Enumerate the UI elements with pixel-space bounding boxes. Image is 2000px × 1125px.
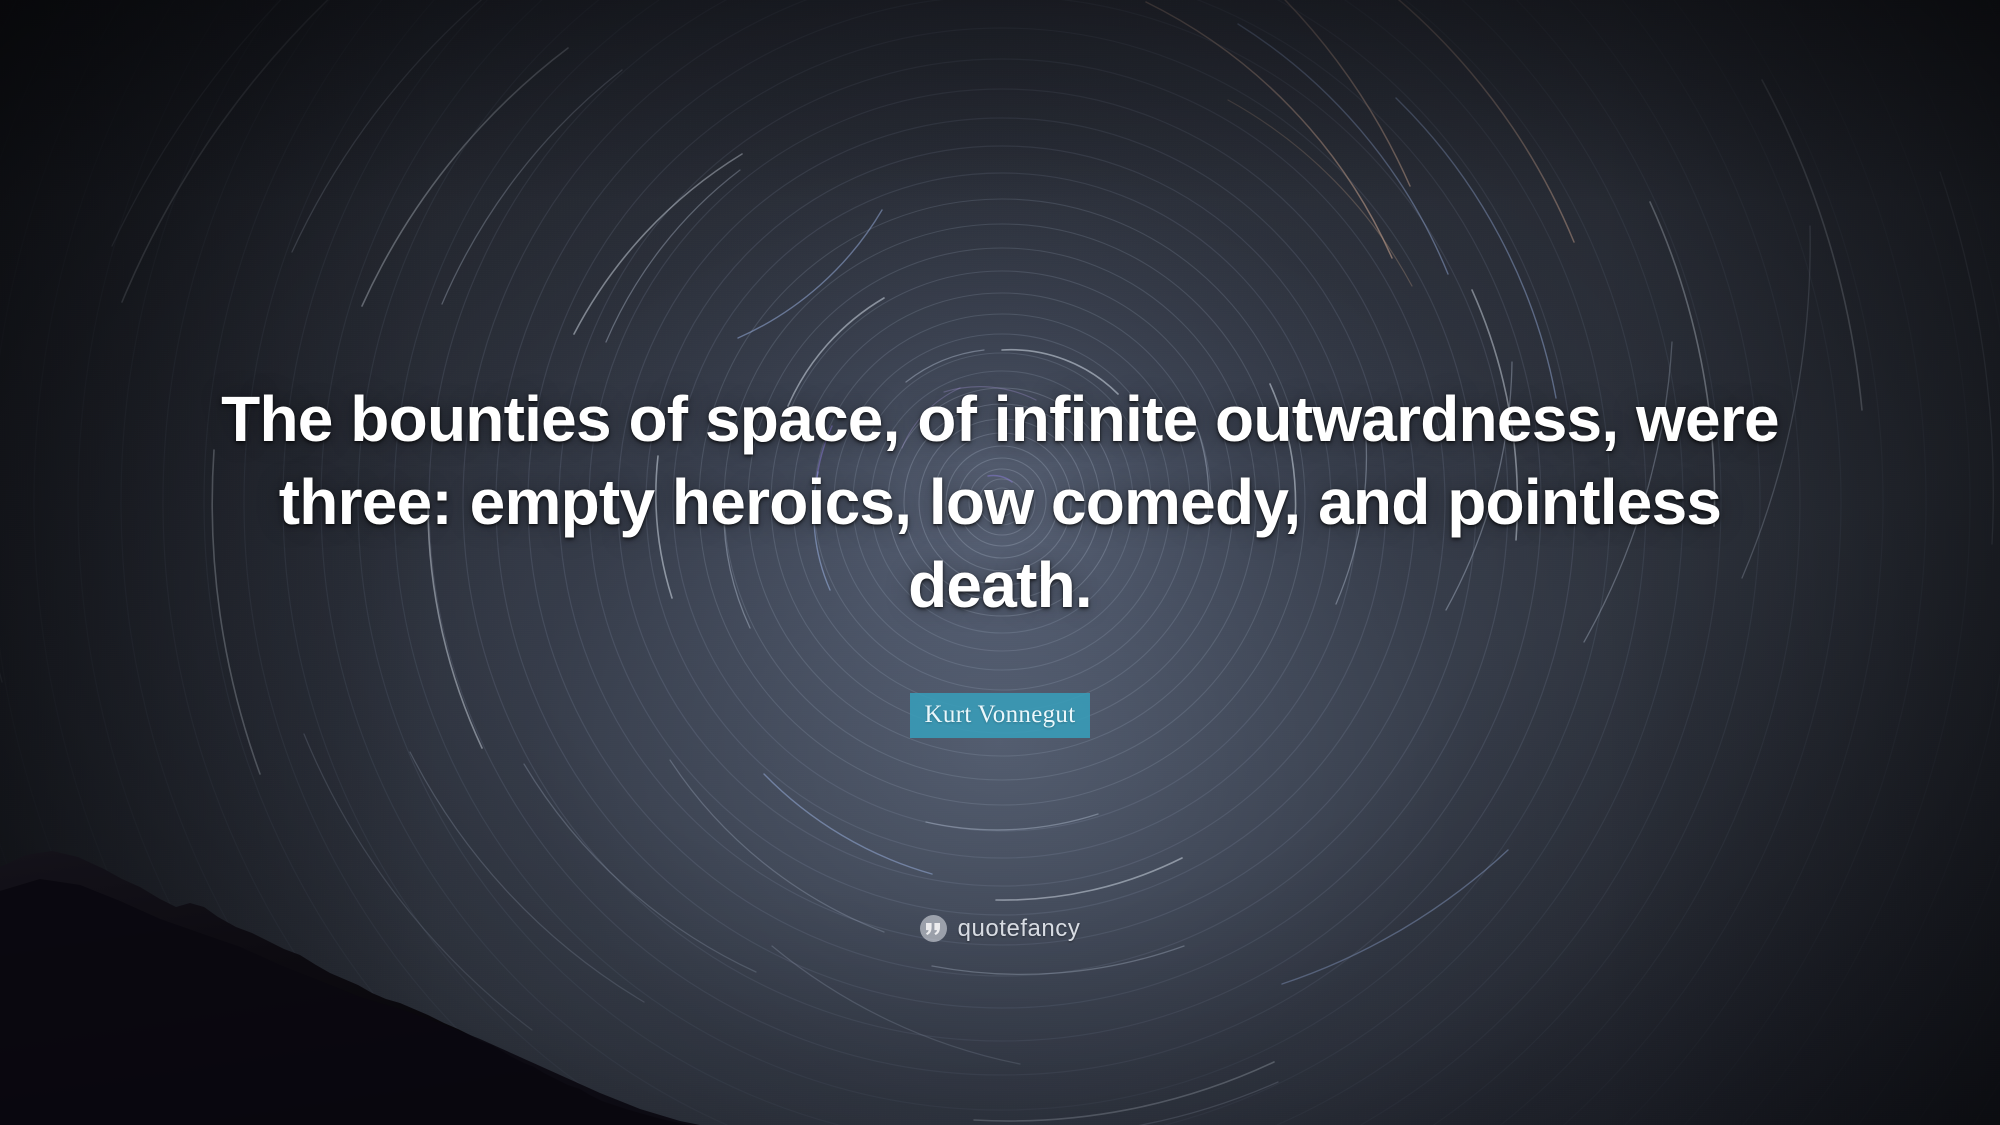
quote-text: The bounties of space, of infinite outwa… bbox=[180, 378, 1820, 628]
author-name-badge[interactable]: Kurt Vonnegut bbox=[910, 693, 1091, 738]
quote-mark-icon bbox=[920, 915, 947, 942]
quotefancy-brand[interactable]: quotefancy bbox=[0, 915, 2000, 942]
quote-poster: The bounties of space, of infinite outwa… bbox=[0, 0, 2000, 1125]
quote-block: The bounties of space, of infinite outwa… bbox=[0, 378, 2000, 628]
author-row: Kurt Vonnegut bbox=[0, 693, 2000, 738]
quotefancy-wordmark: quotefancy bbox=[958, 917, 1081, 941]
